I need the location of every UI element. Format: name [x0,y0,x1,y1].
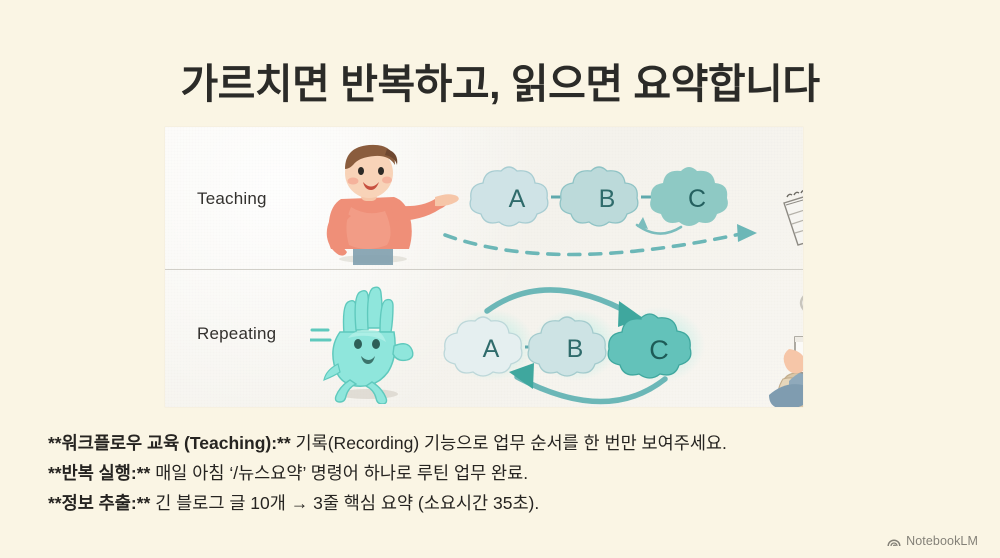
notepad-icon [784,188,803,245]
body-line-1-lead: **워크플로우 교육 (Teaching):** [48,433,291,453]
running-hand-mascot-icon [310,282,435,404]
notebooklm-spiral-icon [887,535,901,547]
node-label-c2: C [649,335,669,365]
body-line-2-rest: 매일 아침 ‘/뉴스요약’ 명령어 하나로 루틴 업무 완료. [150,463,528,483]
teaching-row-figure: A B C [295,135,803,267]
row-divider [165,269,803,270]
body-line-3: **정보 추출:** 긴 블로그 글 10개 → 3줄 핵심 요약 (소요시간 … [48,488,968,518]
relaxing-man-with-coffee-icon [753,269,803,407]
notebooklm-footer-logo: NotebookLM [887,534,978,548]
node-label-b2: B [567,335,584,363]
repeating-loop-figure: A B C [443,275,713,407]
teaching-node-c: C [650,167,728,226]
pointing-boy-icon [327,145,459,265]
body-text-block: **워크플로우 교육 (Teaching):** 기록(Recording) 기… [48,428,968,518]
steam-icon [801,295,803,327]
body-line-2-lead: **반복 실행:** [48,463,150,483]
node-label-b: B [599,185,616,213]
row-label-repeating: Repeating [197,324,276,344]
node-label-a: A [509,185,526,213]
node-label-c: C [688,185,706,213]
slide-root: 가르치면 반복하고, 읽으면 요약합니다 Teaching Repeating [0,0,1000,558]
node-label-a2: A [483,335,500,363]
notebooklm-logo-text: NotebookLM [906,534,978,548]
teaching-node-b: B [560,167,638,226]
body-line-1: **워크플로우 교육 (Teaching):** 기록(Recording) 기… [48,428,968,458]
teaching-node-a: A [470,167,548,226]
row-label-teaching: Teaching [197,189,267,209]
body-line-2: **반복 실행:** 매일 아침 ‘/뉴스요약’ 명령어 하나로 루틴 업무 완… [48,458,968,488]
body-line-1-rest: 기록(Recording) 기능으로 업무 순서를 한 번만 보여주세요. [291,433,727,453]
page-title: 가르치면 반복하고, 읽으면 요약합니다 [0,50,1000,110]
speed-lines-icon [310,330,330,340]
body-line-3-lead: **정보 추출:** [48,493,150,513]
note-taking-ghost-icon [770,145,803,267]
body-line-3-rest: 긴 블로그 글 10개 → 3줄 핵심 요약 (소요시간 35초). [150,493,539,513]
illustration-card: Teaching Repeating [165,127,803,407]
dashed-flow-arrow [445,224,757,255]
